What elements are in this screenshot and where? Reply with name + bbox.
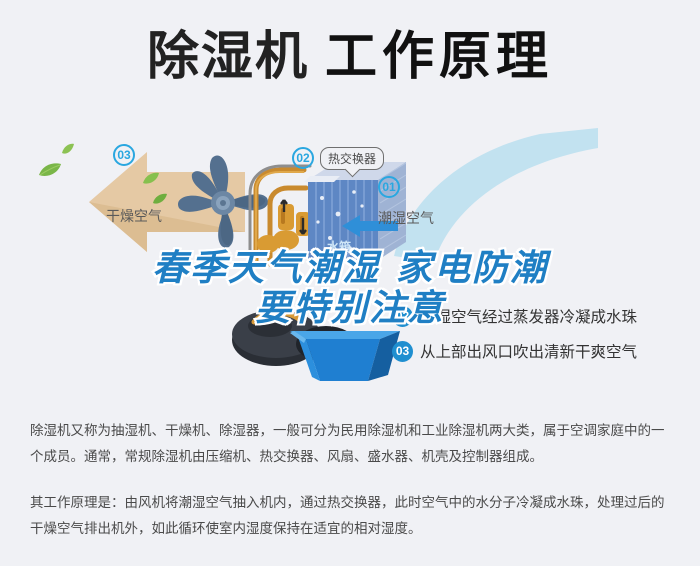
caption-03: 03 从上部出风口吹出清新干爽空气 <box>392 340 637 362</box>
paragraph-1: 除湿机又称为抽湿机、干燥机、除湿器，一般可分为民用除湿机和工业除湿机两大类，属于… <box>30 418 675 470</box>
moist-air-swoosh <box>390 128 605 268</box>
paragraph-2: 其工作原理是：由风机将潮湿空气抽入机内，通过热交换器，此时空气中的水分子冷凝成水… <box>30 490 675 542</box>
label-moist-air: 潮湿空气 <box>378 208 434 228</box>
body-copy: 除湿机又称为抽湿机、干燥机、除湿器，一般可分为民用除湿机和工业除湿机两大类，属于… <box>30 418 675 542</box>
dehumidifier-diagram: 干燥空气 潮湿空气 03 02 01 热交换器 <box>0 120 700 410</box>
callout-heat-exchanger: 热交换器 <box>320 147 384 170</box>
leaf-icon <box>142 172 160 190</box>
title-part-2: 工作原理 <box>325 28 553 86</box>
badge-02-heat-exchanger: 02 <box>292 147 314 169</box>
leaf-icon <box>38 162 62 183</box>
caption-02: 02 潮湿空气经过蒸发器冷凝成水珠 <box>392 305 637 327</box>
caption-03-text: 从上部出风口吹出清新干爽空气 <box>420 340 637 362</box>
title-part-1: 除湿机 <box>147 28 309 86</box>
badge-01-moist-air: 01 <box>378 176 400 198</box>
label-water-tank: 水箱 <box>327 238 351 255</box>
label-dry-air: 干燥空气 <box>106 206 162 226</box>
page-title: 除湿机工作原理 <box>0 30 700 85</box>
badge-03-dry-air: 03 <box>113 144 135 166</box>
badge-02-caption: 02 <box>392 306 413 327</box>
poster-root: 除湿机工作原理 <box>0 0 700 566</box>
water-tank <box>288 325 403 390</box>
leaf-icon <box>61 142 75 160</box>
caption-02-text: 潮湿空气经过蒸发器冷凝成水珠 <box>420 305 637 327</box>
badge-03-caption: 03 <box>392 341 413 362</box>
